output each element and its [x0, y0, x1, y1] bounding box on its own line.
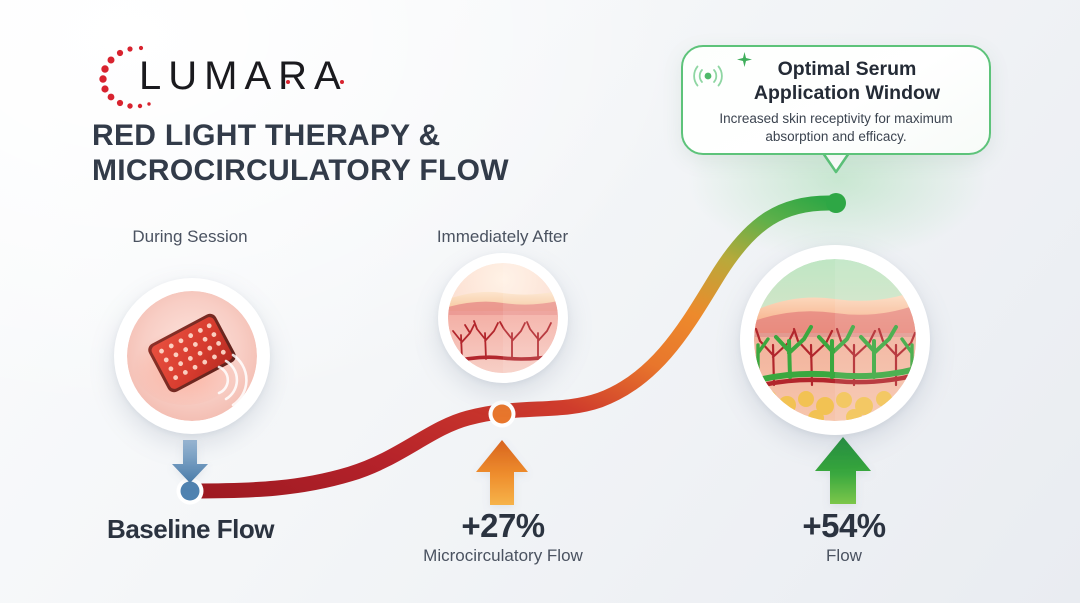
stage-3-value: +54%	[760, 508, 928, 544]
callout-optimal-window[interactable]: Optimal Serum Application Window Increas…	[681, 45, 991, 155]
stage-2-value: +27%	[388, 508, 618, 544]
brand-logo[interactable]: LUMARA	[92, 42, 412, 112]
marker-optimal-window	[826, 193, 846, 213]
stage-2-sublabel: Microcirculatory Flow	[388, 546, 618, 566]
callout-title: Optimal Serum Application Window	[719, 58, 975, 105]
stage-3-sublabel: Flow	[760, 546, 928, 566]
stage-2-label: Immediately After	[355, 227, 650, 247]
page-title: RED LIGHT THERAPY & MICROCIRCULATORY FLO…	[92, 118, 509, 188]
infographic-canvas: LUMARA RED LIGHT THERAPY & MICROCIRCULAT…	[0, 0, 1080, 603]
callout-description: Increased skin receptivity for maximum a…	[697, 110, 975, 146]
stage-2-value-block: +27% Microcirculatory Flow	[388, 508, 618, 566]
logo-dot-accent-1	[286, 80, 290, 84]
up-arrow-icon-green	[815, 437, 871, 504]
skin-enhanced-vessels-icon	[754, 259, 916, 421]
marker-immediately-after	[493, 405, 512, 424]
skin-cross-section-icon	[448, 263, 558, 373]
up-arrow-icon-orange	[476, 440, 528, 505]
stage-1-value-block: Baseline Flow	[48, 515, 333, 544]
stage-3-value-block: +54% Flow	[760, 508, 928, 566]
red-light-panel-icon	[127, 291, 257, 421]
sparkle-icon	[737, 52, 752, 67]
down-arrow-icon	[172, 440, 208, 483]
stage-1-label: During Session	[0, 227, 380, 247]
stage-1-value: Baseline Flow	[48, 515, 333, 544]
marker-baseline	[181, 482, 200, 501]
brand-name: LUMARA	[139, 54, 348, 99]
logo-dot-accent-2	[340, 80, 344, 84]
